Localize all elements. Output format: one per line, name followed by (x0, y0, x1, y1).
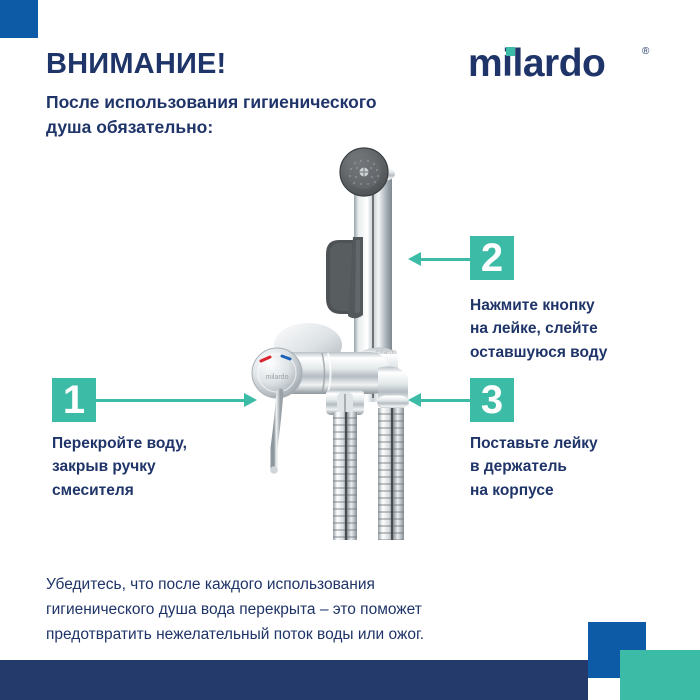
footer-block-teal (620, 650, 700, 700)
callout-1-line-2: закрыв ручку (52, 455, 262, 478)
callout-arrow-2-left-icon (408, 249, 472, 269)
page-subtitle-line-1: После использования гигиенического (46, 90, 466, 115)
footer-note: Убедитесь, что после каждого использован… (46, 572, 576, 647)
callout-badge-1: 1 (52, 378, 96, 422)
arrow-shaft (421, 258, 473, 261)
arrow-shaft (96, 399, 246, 402)
shower-hose (333, 408, 404, 540)
brand-logo: milardo ® (468, 40, 668, 88)
footer-note-line-2: гигиенического душа вода перекрыта – это… (46, 597, 576, 622)
page-title: ВНИМАНИЕ! (46, 48, 226, 81)
callout-1-line-1: Перекройте воду, (52, 432, 262, 455)
callout-2-line-2: на лейке, слейте (470, 317, 685, 340)
brand-logo-wordmark: milardo (468, 40, 668, 88)
callout-text-1: Перекройте воду, закрыв ручку смесителя (52, 432, 262, 502)
callout-3-line-3: на корпусе (470, 479, 685, 502)
callout-3-line-1: Поставьте лейку (470, 432, 685, 455)
poster-canvas: ВНИМАНИЕ! После использования гигиеничес… (0, 0, 700, 700)
arrow-shaft (421, 399, 473, 402)
callout-badge-3: 3 (470, 378, 514, 422)
callout-1-line-3: смесителя (52, 479, 262, 502)
callout-text-2: Нажмите кнопку на лейке, слейте оставшую… (470, 294, 685, 364)
callout-2-line-1: Нажмите кнопку (470, 294, 685, 317)
product-illustration: milardo milardo (236, 140, 456, 540)
callout-text-3: Поставьте лейку в держатель на корпусе (470, 432, 685, 502)
footer-note-line-3: предотвратить нежелательный поток воды и… (46, 622, 576, 647)
svg-text:milardo: milardo (375, 349, 397, 356)
callout-arrow-1-right-icon (96, 390, 258, 410)
registered-trademark-icon: ® (642, 46, 649, 57)
arrow-head (244, 393, 257, 407)
footer-note-line-1: Убедитесь, что после каждого использован… (46, 572, 576, 597)
callout-badge-2: 2 (470, 236, 514, 280)
callout-3-line-2: в держатель (470, 455, 685, 478)
corner-accent-top-left (0, 0, 38, 38)
arrow-head (408, 393, 421, 407)
arrow-head (408, 252, 421, 266)
bidet-shower-mixer-graphic: milardo milardo (236, 140, 456, 540)
page-subtitle: После использования гигиенического душа … (46, 90, 466, 141)
callout-arrow-3-left-icon (408, 390, 472, 410)
product-brand-label: milardo (266, 374, 289, 381)
page-subtitle-line-2: душа обязательно: (46, 115, 466, 140)
brand-logo-dot-icon (506, 47, 515, 56)
footer-bar-navy (0, 660, 588, 700)
callout-2-line-3: оставшуюся воду (470, 341, 685, 364)
